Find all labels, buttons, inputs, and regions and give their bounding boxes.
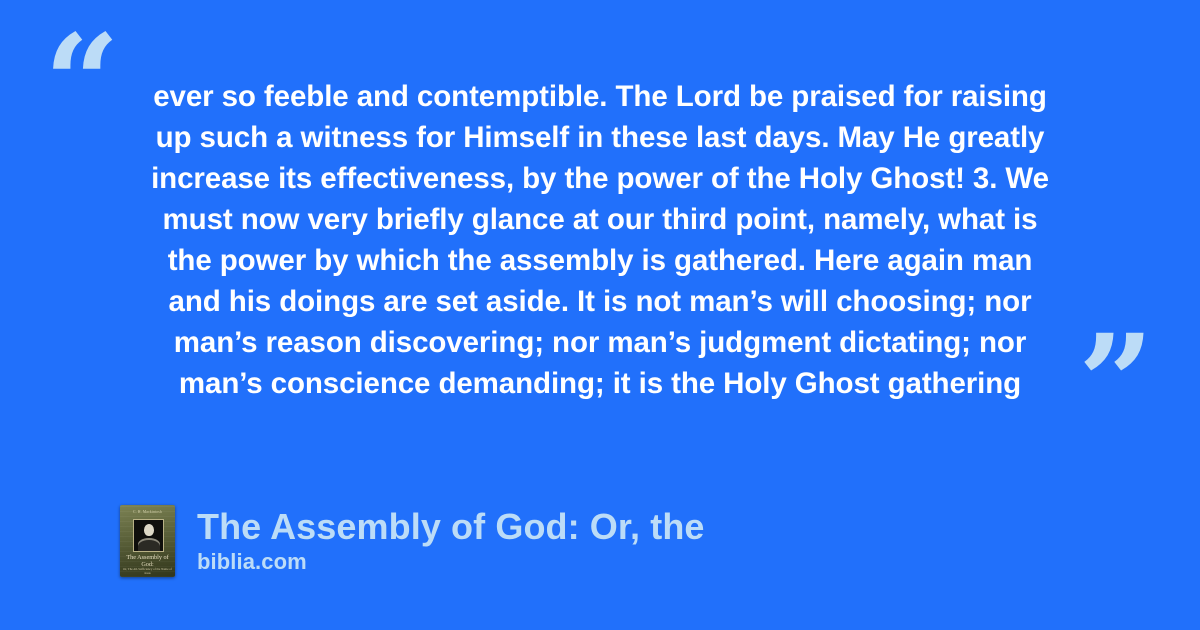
quote-text-block: ever so feeble and contemptible. The Lor… [110,76,1090,404]
quote-line: increase its effectiveness, by the power… [110,158,1090,199]
attribution-text: The Assembly of God: Or, the biblia.com [197,505,705,575]
book-cover-author: C. H. Mackintosh [120,510,175,514]
quote-line: and his doings are set aside. It is not … [110,281,1090,322]
quote-line: up such a witness for Himself in these l… [110,117,1090,158]
quote-line: the power by which the assembly is gathe… [110,240,1090,281]
quote-card: “ ever so feeble and contemptible. The L… [0,0,1200,630]
quote-line: must now very briefly glance at our thir… [110,199,1090,240]
close-quote-icon: ” [1078,318,1152,450]
open-quote-icon: “ [44,18,118,150]
source-site: biblia.com [197,548,705,575]
book-cover-thumbnail: C. H. Mackintosh The Assembly of God: Or… [120,505,175,577]
attribution: C. H. Mackintosh The Assembly of God: Or… [120,505,705,577]
source-title: The Assembly of God: Or, the [197,506,705,548]
book-cover-portrait-icon [133,519,164,552]
book-cover-title: The Assembly of God: [122,554,173,568]
book-cover-subtitle: Or, The All-Sufficiency of the Name of J… [123,568,172,576]
quote-line: man’s conscience demanding; it is the Ho… [110,363,1090,404]
quote-line: ever so feeble and contemptible. The Lor… [110,76,1090,117]
quote-line: man’s reason discovering; nor man’s judg… [110,322,1090,363]
